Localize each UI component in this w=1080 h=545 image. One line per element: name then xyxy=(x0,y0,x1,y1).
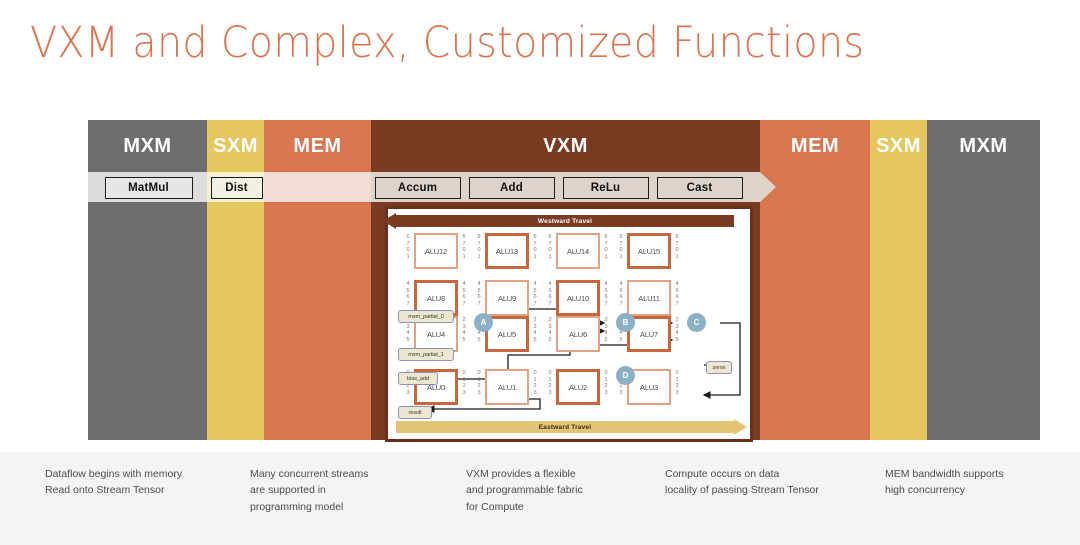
pipeline-column-mxm-6: MXM xyxy=(927,120,1040,440)
alu-ports-alu9-right: 4567 xyxy=(531,281,539,307)
column-fill xyxy=(927,202,1040,440)
column-fill xyxy=(760,202,870,440)
alu-alu1[interactable]: ALU1 xyxy=(485,369,529,405)
column-fill xyxy=(264,202,371,440)
caption-line: for Compute xyxy=(466,499,583,515)
flow-arrow-icon xyxy=(760,172,776,202)
flow-node-d[interactable]: D xyxy=(616,366,635,385)
alu-ports-alu10-left: 4567 xyxy=(546,281,554,307)
caption-line: VXM provides a flexible xyxy=(466,466,583,482)
column-header-vxm: VXM xyxy=(371,120,760,172)
column-header-sxm: SXM xyxy=(207,120,264,172)
column-op-strip: MatMul xyxy=(88,172,207,202)
column-body xyxy=(760,172,870,440)
caption-line: locality of passing Stream Tensor xyxy=(665,482,819,498)
alu-ports-alu7-right: 2345 xyxy=(673,317,681,343)
alu-ports-alu8-right: 4567 xyxy=(460,281,468,307)
alu-alu12[interactable]: ALU12 xyxy=(414,233,458,269)
alu-ports-alu12-left: 6701 xyxy=(404,234,412,260)
alu-ports-alu15-left: 6701 xyxy=(617,234,625,260)
caption-line: programming model xyxy=(250,499,368,515)
column-header-mem: MEM xyxy=(760,120,870,172)
column-body xyxy=(927,172,1040,440)
alu-alu11[interactable]: ALU11 xyxy=(627,280,671,316)
caption-line: Many concurrent streams xyxy=(250,466,368,482)
alu-alu6[interactable]: ALU6 xyxy=(556,316,600,352)
alu-alu14[interactable]: ALU14 xyxy=(556,233,600,269)
column-fill xyxy=(870,202,927,440)
page-title: VXM and Complex, Customized Functions xyxy=(30,18,864,68)
alu-ports-alu11-left: 4567 xyxy=(617,281,625,307)
column-fill xyxy=(88,202,207,440)
stream-tag-result[interactable]: result xyxy=(398,406,432,419)
column-header-sxm: SXM xyxy=(870,120,927,172)
caption-row: Dataflow begins with memoryRead onto Str… xyxy=(0,452,1080,545)
column-body: MatMul xyxy=(88,172,207,440)
alu-ports-alu15-right: 6701 xyxy=(673,234,681,260)
alu-ports-alu13-right: 6701 xyxy=(531,234,539,260)
caption-line: MEM bandwidth supports xyxy=(885,466,1003,482)
alu-ports-alu12-right: 6701 xyxy=(460,234,468,260)
alu-ports-alu2-right: 0123 xyxy=(602,370,610,396)
alu-ports-alu1-right: 0123 xyxy=(531,370,539,396)
caption-5: MEM bandwidth supportshigh concurrency xyxy=(885,466,1003,499)
stream-tag-zeros[interactable]: zeros xyxy=(706,361,732,374)
alu-alu2[interactable]: ALU2 xyxy=(556,369,600,405)
column-op-strip xyxy=(927,172,1040,202)
caption-line: and programmable fabric xyxy=(466,482,583,498)
caption-3: VXM provides a flexibleand programmable … xyxy=(466,466,583,515)
caption-1: Dataflow begins with memoryRead onto Str… xyxy=(45,466,182,499)
stream-tag-mxm-partial-0[interactable]: mxm_partial_0 xyxy=(398,310,454,323)
alu-ports-alu11-right: 4567 xyxy=(673,281,681,307)
caption-line: high concurrency xyxy=(885,482,1003,498)
column-body xyxy=(870,172,927,440)
pipeline-column-mxm-0: MXMMatMul xyxy=(88,120,207,440)
op-pill-accum[interactable]: Accum xyxy=(375,177,461,199)
alu-ports-alu1-left: 0123 xyxy=(475,370,483,396)
alu-ports-alu0-right: 0123 xyxy=(460,370,468,396)
column-body: Dist xyxy=(207,172,264,440)
pipeline-column-mem-2: MEM xyxy=(264,120,371,440)
op-pill-dist[interactable]: Dist xyxy=(211,177,263,199)
alu-fabric-diagram: Westward TravelEastward TravelALU1267016… xyxy=(385,206,753,442)
stream-tag-mxm-partial-1[interactable]: mxm_partial_1 xyxy=(398,348,454,361)
column-header-mxm: MXM xyxy=(927,120,1040,172)
alu-ports-alu10-right: 4567 xyxy=(602,281,610,307)
column-body xyxy=(264,172,371,440)
pipeline-column-sxm-1: SXMDist xyxy=(207,120,264,440)
op-pill-relu[interactable]: ReLu xyxy=(563,177,649,199)
alu-ports-alu13-left: 6701 xyxy=(475,234,483,260)
caption-line: are supported in xyxy=(250,482,368,498)
alu-ports-alu6-right: 2345 xyxy=(602,317,610,343)
alu-ports-alu14-left: 6701 xyxy=(546,234,554,260)
op-pill-matmul[interactable]: MatMul xyxy=(105,177,193,199)
column-header-mem: MEM xyxy=(264,120,371,172)
op-pill-add[interactable]: Add xyxy=(469,177,555,199)
column-op-strip xyxy=(870,172,927,202)
alu-ports-alu2-left: 0123 xyxy=(546,370,554,396)
eastward-travel-arrow: Eastward Travel xyxy=(396,421,734,433)
stream-tag-bias-add[interactable]: bias_add xyxy=(398,372,438,385)
alu-ports-alu5-right: 2345 xyxy=(531,317,539,343)
pipeline-column-sxm-5: SXM xyxy=(870,120,927,440)
alu-ports-alu9-left: 4567 xyxy=(475,281,483,307)
flow-node-c[interactable]: C xyxy=(687,313,706,332)
column-op-strip xyxy=(264,172,371,202)
westward-travel-arrow: Westward Travel xyxy=(396,215,734,227)
flow-node-a[interactable]: A xyxy=(474,313,493,332)
alu-ports-alu4-right: 2345 xyxy=(460,317,468,343)
column-op-strip xyxy=(760,172,870,202)
column-header-mxm: MXM xyxy=(88,120,207,172)
column-fill xyxy=(207,202,264,440)
caption-line: Compute occurs on data xyxy=(665,466,819,482)
alu-ports-alu3-right: 0123 xyxy=(673,370,681,396)
caption-line: Dataflow begins with memory xyxy=(45,466,182,482)
alu-ports-alu6-left: 2345 xyxy=(546,317,554,343)
op-pill-cast[interactable]: Cast xyxy=(657,177,743,199)
alu-alu10[interactable]: ALU10 xyxy=(556,280,600,316)
flow-node-b[interactable]: B xyxy=(616,313,635,332)
caption-2: Many concurrent streamsare supported inp… xyxy=(250,466,368,515)
alu-alu15[interactable]: ALU15 xyxy=(627,233,671,269)
column-op-strip: Dist xyxy=(207,172,264,202)
alu-alu13[interactable]: ALU13 xyxy=(485,233,529,269)
alu-alu9[interactable]: ALU9 xyxy=(485,280,529,316)
alu-ports-alu8-left: 4567 xyxy=(404,281,412,307)
pipeline-column-mem-4: MEM xyxy=(760,120,870,440)
alu-ports-alu14-right: 6701 xyxy=(602,234,610,260)
caption-4: Compute occurs on datalocality of passin… xyxy=(665,466,819,499)
caption-line: Read onto Stream Tensor xyxy=(45,482,182,498)
column-op-strip: AccumAddReLuCast xyxy=(371,172,760,202)
